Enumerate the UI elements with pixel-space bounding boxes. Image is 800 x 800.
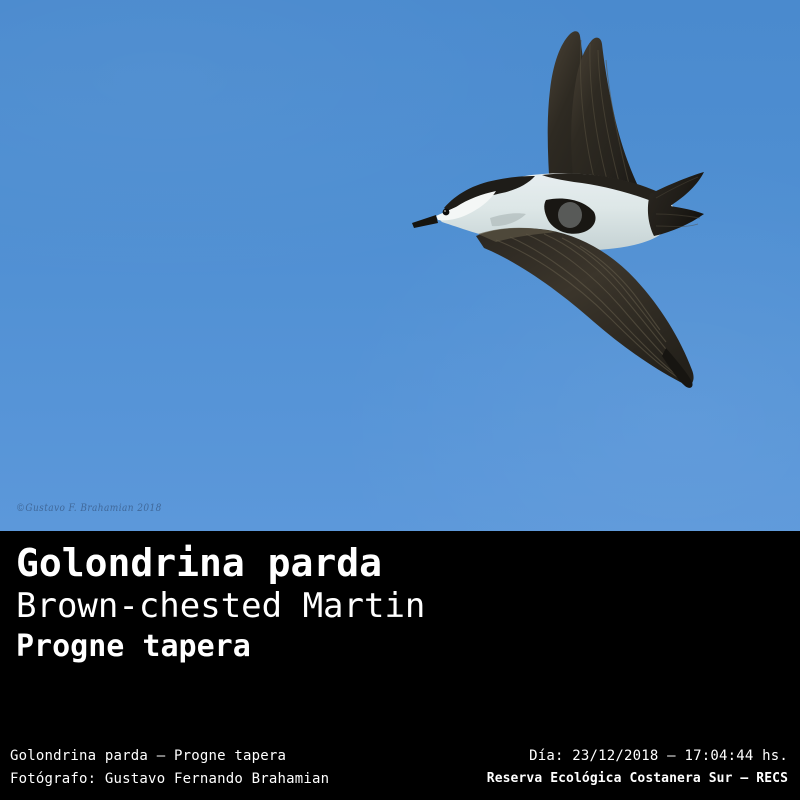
photo-card: ©Gustavo F. Brahamian 2018 Golondrina pa… — [0, 0, 800, 800]
footer-right-column: Día: 23/12/2018 — 17:04:44 hs. Reserva E… — [487, 745, 788, 790]
footer-left-column: Golondrina parda — Progne tapera Fotógra… — [10, 745, 329, 791]
footer-date-line: Día: 23/12/2018 — 17:04:44 hs. — [487, 745, 788, 768]
bird-in-flight-image — [398, 18, 708, 408]
species-names: Golondrina parda Brown-chested Martin Pr… — [16, 541, 616, 667]
common-name-spanish: Golondrina parda — [16, 541, 616, 585]
footer-location-line: Reserva Ecológica Costanera Sur — RECS — [487, 768, 788, 790]
footer-photographer-line: Fotógrafo: Gustavo Fernando Brahamian — [10, 768, 329, 791]
footer-bar: Golondrina parda — Progne tapera Fotógra… — [0, 738, 800, 800]
common-name-english: Brown-chested Martin — [16, 585, 616, 627]
caption-bar: Golondrina parda Brown-chested Martin Pr… — [0, 531, 800, 738]
photographer-watermark: ©Gustavo F. Brahamian 2018 — [16, 503, 162, 515]
scientific-name: Progne tapera — [16, 627, 616, 667]
footer-species-line: Golondrina parda — Progne tapera — [10, 745, 329, 768]
bird-photograph: ©Gustavo F. Brahamian 2018 — [0, 0, 800, 531]
